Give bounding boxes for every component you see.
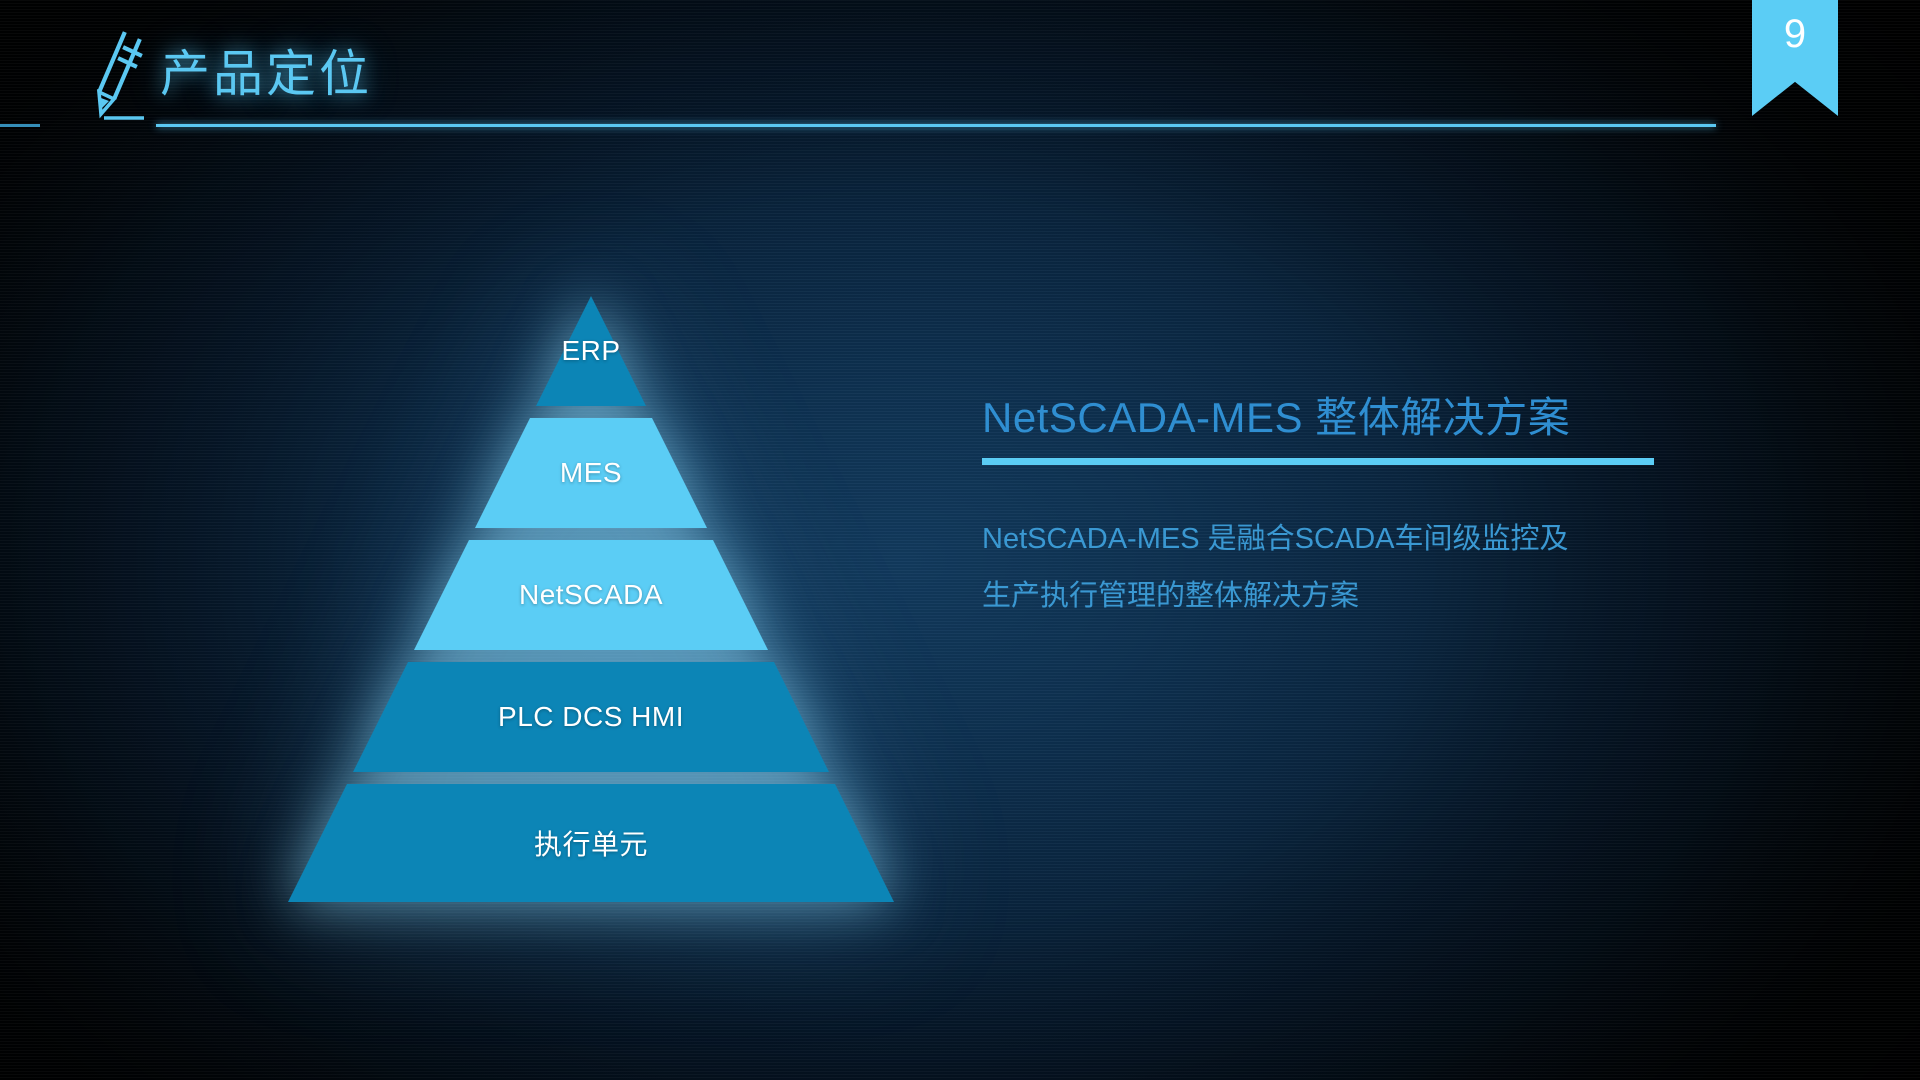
content-body-line: NetSCADA-MES 是融合SCADA车间级监控及 — [982, 511, 1672, 568]
content-panel: NetSCADA-MES 整体解决方案 NetSCADA-MES 是融合SCAD… — [982, 392, 1722, 625]
content-body: NetSCADA-MES 是融合SCADA车间级监控及 生产执行管理的整体解决方… — [982, 511, 1672, 625]
slide-header: 产品定位 — [0, 0, 1920, 150]
content-heading-underline — [982, 458, 1654, 465]
pyramid-tier-mes[interactable]: MES — [285, 418, 897, 528]
pyramid-tier-netscada[interactable]: NetSCADA — [285, 540, 897, 650]
pyramid-tier-execution-unit[interactable]: 执行单元 — [285, 784, 897, 902]
pyramid-tier-label: PLC DCS HMI — [498, 701, 684, 733]
pyramid-tier-label: ERP — [561, 335, 620, 367]
content-heading: NetSCADA-MES 整体解决方案 — [982, 392, 1722, 444]
header-rule-stub — [0, 124, 40, 127]
header-divider-line — [156, 124, 1716, 127]
product-positioning-pyramid: ERP MES NetSCADA PLC DCS HMI — [285, 296, 897, 910]
content-body-line: 生产执行管理的整体解决方案 — [982, 568, 1672, 625]
page-number: 9 — [1752, 12, 1838, 57]
pyramid-tier-label: MES — [560, 457, 622, 489]
pyramid-tier-label: 执行单元 — [534, 823, 648, 863]
slide-canvas: 产品定位 9 ERP MES NetSCADA — [0, 0, 1920, 1080]
pencil-icon — [82, 28, 152, 123]
pyramid-tier-label: NetSCADA — [519, 579, 663, 611]
pyramid-tier-erp[interactable]: ERP — [285, 296, 897, 406]
page-title: 产品定位 — [160, 46, 372, 102]
pyramid-tier-plc-dcs-hmi[interactable]: PLC DCS HMI — [285, 662, 897, 772]
